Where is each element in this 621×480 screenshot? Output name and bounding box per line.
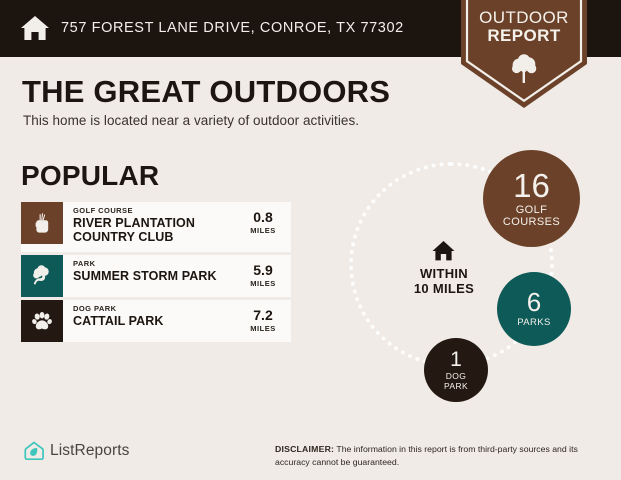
bubble-count: 1 bbox=[450, 349, 462, 370]
distance-unit: MILES bbox=[235, 324, 291, 333]
list-item-body: PARK SUMMER STORM PARK bbox=[63, 255, 235, 297]
disclaimer: DISCLAIMER: The information in this repo… bbox=[275, 443, 605, 468]
list-item-name: RIVER PLANTATION COUNTRY CLUB bbox=[73, 216, 235, 244]
list-item-category: PARK bbox=[73, 260, 235, 268]
list-item-body: GOLF COURSE RIVER PLANTATION COUNTRY CLU… bbox=[63, 202, 235, 252]
list-item-distance: 5.9 MILES bbox=[235, 255, 291, 297]
radius-label-line-1: WITHIN bbox=[386, 266, 502, 281]
popular-heading: POPULAR bbox=[21, 160, 159, 192]
bubble-label-line-2: COURSES bbox=[503, 217, 560, 229]
popular-list: GOLF COURSE RIVER PLANTATION COUNTRY CLU… bbox=[21, 202, 291, 345]
bubble-label-line-1: GOLF bbox=[503, 205, 560, 217]
list-item[interactable]: GOLF COURSE RIVER PLANTATION COUNTRY CLU… bbox=[21, 202, 291, 252]
page-title: THE GREAT OUTDOORS bbox=[22, 74, 390, 110]
tree-icon bbox=[21, 255, 63, 297]
distance-unit: MILES bbox=[235, 226, 291, 235]
page-subtitle: This home is located near a variety of o… bbox=[23, 113, 359, 128]
distance-value: 0.8 bbox=[235, 210, 291, 224]
bubble-dog-park[interactable]: 1 DOG PARK bbox=[424, 338, 488, 402]
home-icon bbox=[432, 240, 455, 262]
listreports-house-leaf-icon bbox=[24, 441, 44, 461]
list-item-body: DOG PARK CATTAIL PARK bbox=[63, 300, 235, 342]
radius-label-line-2: 10 MILES bbox=[386, 281, 502, 296]
paw-icon bbox=[21, 300, 63, 342]
bubble-count: 6 bbox=[527, 289, 541, 315]
list-item-category: GOLF COURSE bbox=[73, 207, 235, 215]
outdoor-report-page: 757 FOREST LANE DRIVE, CONROE, TX 77302 … bbox=[0, 0, 621, 480]
bubble-label: GOLF COURSES bbox=[503, 205, 560, 229]
bubble-label: DOG PARK bbox=[444, 372, 468, 390]
disclaimer-label: DISCLAIMER: bbox=[275, 444, 334, 454]
list-item[interactable]: DOG PARK CATTAIL PARK 7.2 MILES bbox=[21, 300, 291, 342]
distance-unit: MILES bbox=[235, 279, 291, 288]
list-item-distance: 0.8 MILES bbox=[235, 202, 291, 252]
home-icon bbox=[20, 13, 50, 43]
bubble-label-line-2: PARK bbox=[444, 382, 468, 391]
list-item-name: CATTAIL PARK bbox=[73, 314, 235, 328]
bubble-golf-courses[interactable]: 16 GOLF COURSES bbox=[483, 150, 580, 247]
tree-icon bbox=[511, 54, 537, 84]
listreports-logo[interactable]: ListReports bbox=[24, 441, 130, 461]
distance-value: 7.2 bbox=[235, 308, 291, 322]
distance-value: 5.9 bbox=[235, 263, 291, 277]
radius-label: WITHIN 10 MILES bbox=[386, 266, 502, 296]
property-address: 757 FOREST LANE DRIVE, CONROE, TX 77302 bbox=[61, 20, 404, 36]
golf-bag-icon bbox=[21, 202, 63, 244]
list-item-distance: 7.2 MILES bbox=[235, 300, 291, 342]
list-item-category: DOG PARK bbox=[73, 305, 235, 313]
bubble-count: 16 bbox=[513, 169, 550, 202]
list-item[interactable]: PARK SUMMER STORM PARK 5.9 MILES bbox=[21, 255, 291, 297]
listreports-logo-text: ListReports bbox=[50, 442, 130, 460]
bubble-label-line-1: PARKS bbox=[517, 318, 551, 328]
bubble-label: PARKS bbox=[517, 318, 551, 328]
list-item-name: SUMMER STORM PARK bbox=[73, 269, 235, 283]
outdoor-report-badge: OUTDOOR REPORT bbox=[461, 0, 587, 108]
bubble-parks[interactable]: 6 PARKS bbox=[497, 272, 571, 346]
